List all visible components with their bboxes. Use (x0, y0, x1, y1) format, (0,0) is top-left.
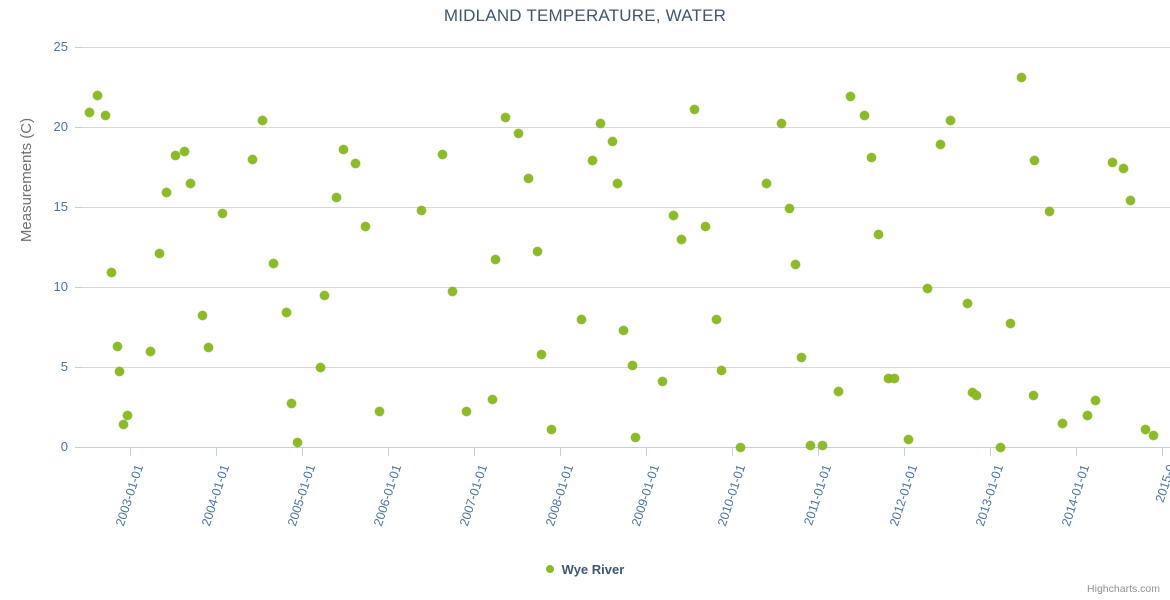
data-point[interactable] (1045, 207, 1054, 216)
x-tick-label-text: 2007-01-01 (457, 459, 491, 528)
data-point[interactable] (287, 399, 296, 408)
data-point[interactable] (936, 140, 945, 149)
data-point[interactable] (631, 433, 640, 442)
x-tick-label-text: 2015-0 (1153, 459, 1170, 504)
data-point[interactable] (860, 111, 869, 120)
data-point[interactable] (488, 395, 497, 404)
y-tick-mark (75, 287, 82, 288)
plot-area (82, 47, 1170, 447)
data-point[interactable] (1119, 164, 1128, 173)
data-point[interactable] (218, 209, 227, 218)
x-tick-mark (732, 448, 733, 456)
y-gridline (82, 287, 1170, 288)
data-point[interactable] (101, 111, 110, 120)
data-point[interactable] (946, 116, 955, 125)
x-tick-mark (388, 448, 389, 456)
y-gridline (82, 367, 1170, 368)
x-tick-mark (1076, 448, 1077, 456)
data-point[interactable] (658, 377, 667, 386)
y-tick-mark (75, 447, 82, 448)
data-point[interactable] (119, 420, 128, 429)
data-point[interactable] (785, 204, 794, 213)
y-tick-label: 5 (0, 360, 68, 373)
data-point[interactable] (375, 407, 384, 416)
legend-item-label: Wye River (562, 562, 625, 577)
data-point[interactable] (608, 137, 617, 146)
data-point[interactable] (904, 435, 913, 444)
y-tick-label: 0 (0, 440, 68, 453)
data-point[interactable] (258, 116, 267, 125)
y-tick-label: 15 (0, 200, 68, 213)
y-tick-label: 10 (0, 280, 68, 293)
y-tick-mark (75, 207, 82, 208)
x-tick-label-text: 2010-01-01 (715, 459, 749, 528)
data-point[interactable] (186, 179, 195, 188)
chart-title: MIDLAND TEMPERATURE, WATER (0, 6, 1170, 26)
x-tick-label-text: 2008-01-01 (543, 459, 577, 528)
data-point[interactable] (85, 108, 94, 117)
data-point[interactable] (1149, 431, 1158, 440)
data-point[interactable] (577, 315, 586, 324)
legend-item-wye-river[interactable]: Wye River (546, 562, 625, 577)
highcharts-scatter-chart: MIDLAND TEMPERATURE, WATER Measurements … (0, 0, 1170, 600)
data-point[interactable] (198, 311, 207, 320)
data-point[interactable] (777, 119, 786, 128)
y-tick-mark (75, 367, 82, 368)
data-point[interactable] (514, 129, 523, 138)
x-tick-label-text: 2005-01-01 (285, 459, 319, 528)
data-point[interactable] (113, 342, 122, 351)
data-point[interactable] (537, 350, 546, 359)
data-point[interactable] (155, 249, 164, 258)
y-gridline (82, 127, 1170, 128)
x-tick-label-text: 2009-01-01 (629, 459, 663, 528)
x-tick-mark (1162, 448, 1163, 456)
data-point[interactable] (619, 326, 628, 335)
data-point[interactable] (677, 235, 686, 244)
data-point[interactable] (690, 105, 699, 114)
data-point[interactable] (1029, 391, 1038, 400)
data-point[interactable] (717, 366, 726, 375)
data-point[interactable] (524, 174, 533, 183)
data-point[interactable] (501, 113, 510, 122)
data-point[interactable] (628, 361, 637, 370)
y-tick-label: 25 (0, 40, 68, 53)
data-point[interactable] (613, 179, 622, 188)
data-point[interactable] (701, 222, 710, 231)
data-point[interactable] (867, 153, 876, 162)
legend-marker-icon (546, 565, 554, 573)
y-tick-label: 20 (0, 120, 68, 133)
data-point[interactable] (491, 255, 500, 264)
data-point[interactable] (320, 291, 329, 300)
data-point[interactable] (316, 363, 325, 372)
x-tick-mark (130, 448, 131, 456)
x-tick-mark (646, 448, 647, 456)
x-tick-mark (904, 448, 905, 456)
data-point[interactable] (171, 151, 180, 160)
x-tick-mark (560, 448, 561, 456)
data-point[interactable] (93, 91, 102, 100)
x-tick-label-text: 2004-01-01 (199, 459, 233, 528)
data-point[interactable] (351, 159, 360, 168)
data-point[interactable] (462, 407, 471, 416)
data-point[interactable] (332, 193, 341, 202)
data-point[interactable] (417, 206, 426, 215)
x-tick-mark (216, 448, 217, 456)
data-point[interactable] (596, 119, 605, 128)
data-point[interactable] (107, 268, 116, 277)
x-tick-label-text: 2006-01-01 (371, 459, 405, 528)
data-point[interactable] (115, 367, 124, 376)
data-point[interactable] (712, 315, 721, 324)
y-tick-mark (75, 47, 82, 48)
x-tick-label-text: 2013-01-01 (973, 459, 1007, 528)
x-tick-label-text: 2012-01-01 (887, 459, 921, 528)
y-gridline (82, 207, 1170, 208)
data-point[interactable] (269, 259, 278, 268)
data-point[interactable] (762, 179, 771, 188)
y-tick-mark (75, 127, 82, 128)
x-tick-label-text: 2014-01-01 (1059, 459, 1093, 528)
data-point[interactable] (846, 92, 855, 101)
data-point[interactable] (180, 147, 189, 156)
data-point[interactable] (1017, 73, 1026, 82)
data-point[interactable] (123, 411, 132, 420)
chart-legend: Wye River (0, 562, 1170, 577)
data-point[interactable] (282, 308, 291, 317)
data-point[interactable] (1126, 196, 1135, 205)
data-point[interactable] (438, 150, 447, 159)
data-point[interactable] (248, 155, 257, 164)
x-tick-mark (990, 448, 991, 456)
data-point[interactable] (1058, 419, 1067, 428)
data-point[interactable] (1083, 411, 1092, 420)
data-point[interactable] (963, 299, 972, 308)
data-point[interactable] (874, 230, 883, 239)
data-point[interactable] (339, 145, 348, 154)
data-point[interactable] (791, 260, 800, 269)
data-point[interactable] (361, 222, 370, 231)
data-point[interactable] (162, 188, 171, 197)
data-point[interactable] (923, 284, 932, 293)
x-tick-label-text: 2011-01-01 (801, 459, 835, 527)
x-tick-mark (474, 448, 475, 456)
data-point[interactable] (1141, 425, 1150, 434)
data-point[interactable] (1006, 319, 1015, 328)
data-point[interactable] (806, 441, 815, 450)
y-gridline (82, 47, 1170, 48)
data-point[interactable] (293, 438, 302, 447)
data-point[interactable] (834, 387, 843, 396)
data-point[interactable] (533, 247, 542, 256)
data-point[interactable] (588, 156, 597, 165)
x-tick-label-text: 2003-01-01 (113, 459, 147, 528)
data-point[interactable] (797, 353, 806, 362)
data-point[interactable] (448, 287, 457, 296)
data-point[interactable] (547, 425, 556, 434)
data-point[interactable] (146, 347, 155, 356)
data-point[interactable] (1108, 158, 1117, 167)
credits-link[interactable]: Highcharts.com (1087, 583, 1160, 595)
data-point[interactable] (1030, 156, 1039, 165)
x-tick-mark (818, 448, 819, 456)
data-point[interactable] (890, 374, 899, 383)
data-point[interactable] (669, 211, 678, 220)
data-point[interactable] (204, 343, 213, 352)
data-point[interactable] (972, 391, 981, 400)
x-tick-mark (302, 448, 303, 456)
